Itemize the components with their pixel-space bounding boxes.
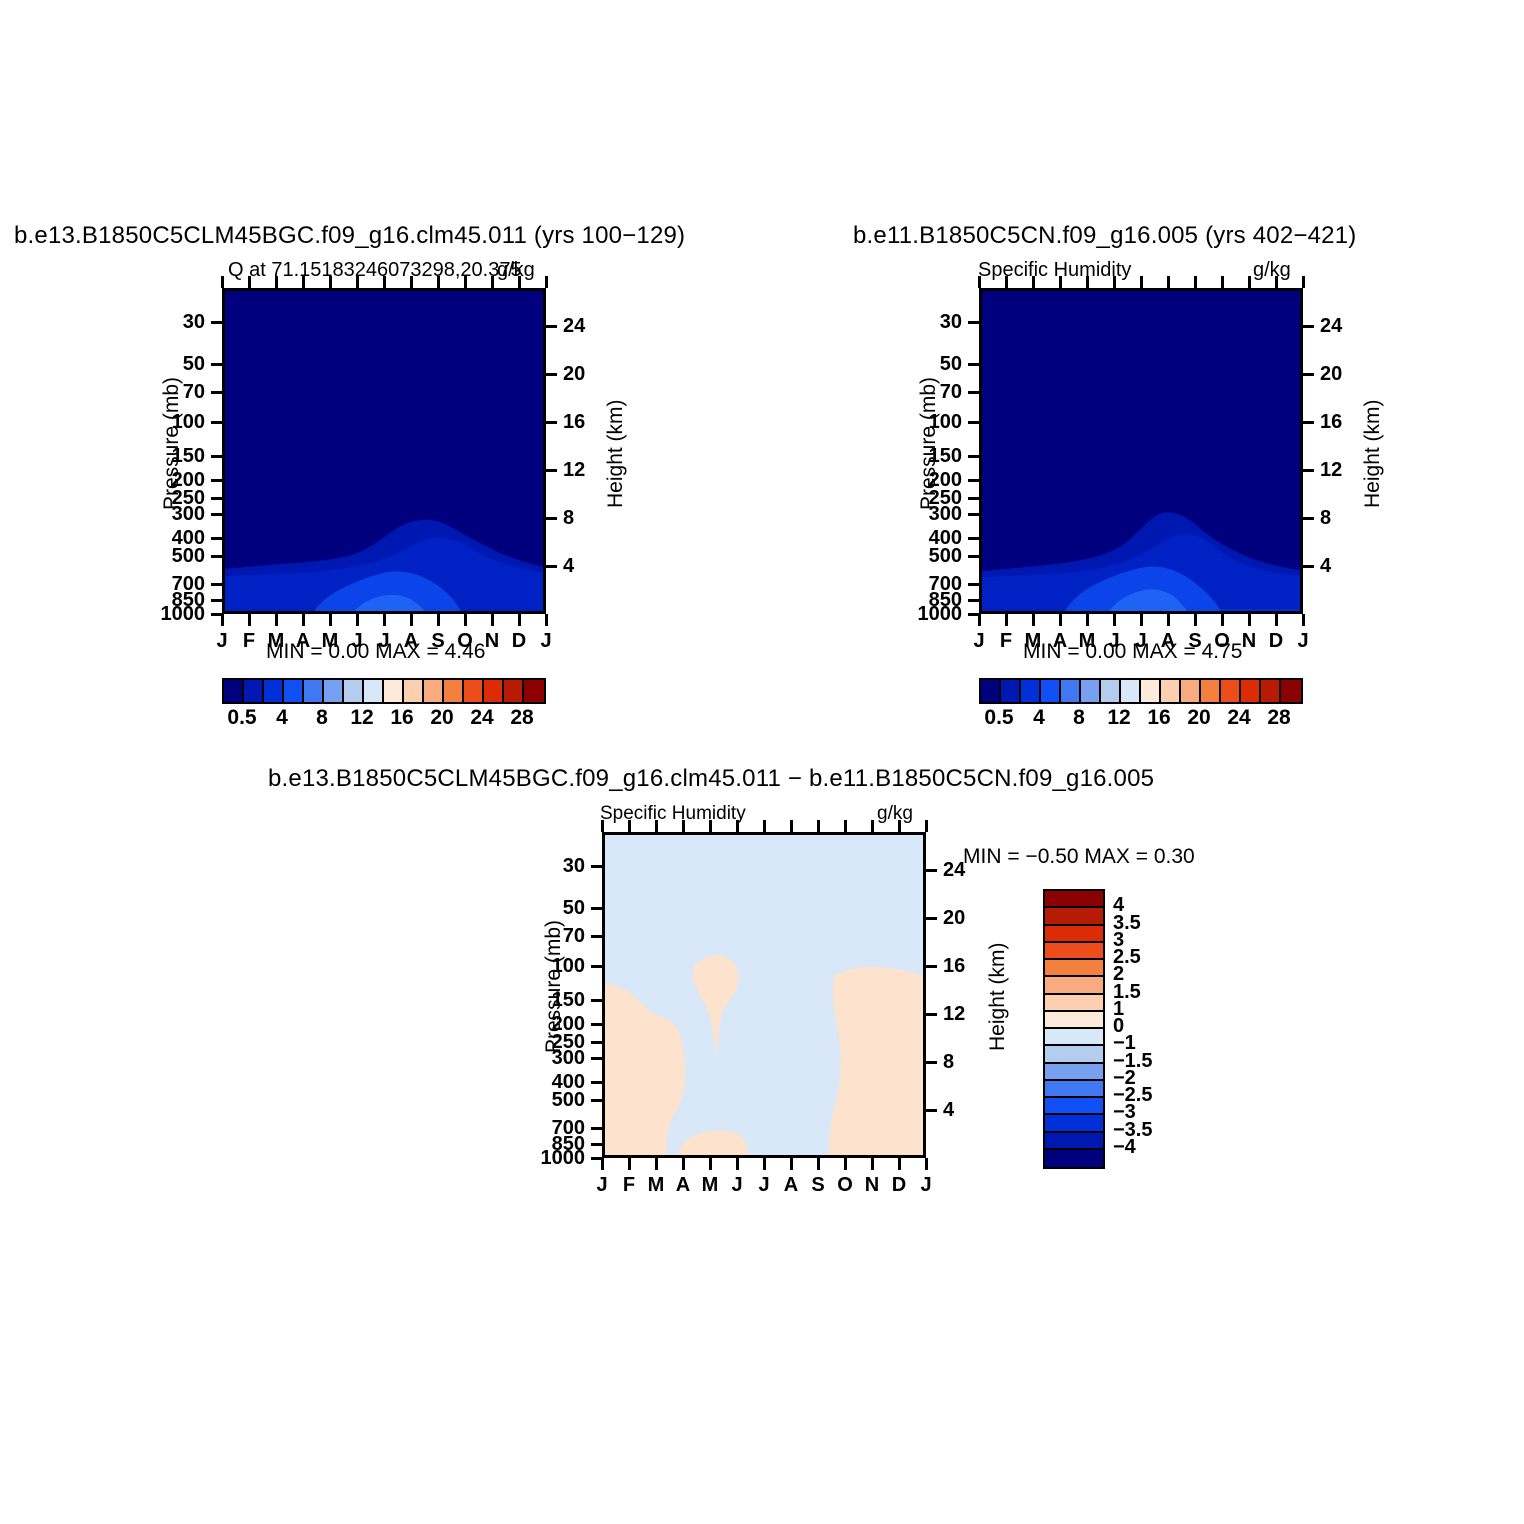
panel-difference-pressure-tick-400 (591, 1081, 602, 1084)
panel-case1-month-label-4: M (322, 630, 339, 653)
panel-case1-height-tick-20 (546, 373, 557, 376)
panel-difference-height-label-8: 8 (943, 1051, 954, 1074)
panel-case1-bottom-tick-5 (356, 614, 359, 626)
panel-difference-pressure-tick-150 (591, 999, 602, 1002)
panel-case1-height-label-20: 20 (563, 363, 585, 386)
panel-case2-colorbar-label-2: 8 (1073, 706, 1085, 730)
panel-case1-month-label-10: N (485, 630, 499, 653)
panel-case2-contour-field (982, 291, 1302, 613)
panel-case2-colorbar-swatch-8 (1141, 680, 1161, 702)
panel-case1-height-label-24: 24 (563, 315, 585, 338)
panel-case2-height-label-24: 24 (1320, 315, 1342, 338)
panel-case1-colorbar-swatch-12 (464, 680, 484, 702)
panel-case2-top-tick-6 (1140, 276, 1143, 288)
panel-case1-pressure-label-100: 100 (172, 411, 205, 434)
panel-case2-colorbar-swatch-9 (1161, 680, 1181, 702)
panel-difference-pressure-label-500: 500 (552, 1089, 585, 1112)
panel-difference-colorbar-swatch-5 (1045, 977, 1103, 994)
panel-case1-pressure-tick-30 (211, 321, 222, 324)
panel-case1-month-label-6: J (378, 630, 389, 653)
panel-case2-top-tick-4 (1086, 276, 1089, 288)
panel-case1-pressure-tick-150 (211, 455, 222, 458)
panel-case1-month-label-1: F (243, 630, 255, 653)
panel-case2-month-label-1: F (1000, 630, 1012, 653)
panel-case1-colorbar-label-4: 16 (390, 706, 413, 730)
panel-case1-colorbar-label-1: 4 (276, 706, 288, 730)
panel-difference-top-tick-8 (817, 820, 820, 832)
panel-difference-month-label-9: O (837, 1174, 853, 1197)
panel-case1-month-label-11: D (512, 630, 526, 653)
panel-case1-pressure-tick-250 (211, 497, 222, 500)
panel-difference-top-tick-2 (655, 820, 658, 832)
panel-case1-pressure-tick-200 (211, 479, 222, 482)
panel-case2-pressure-tick-400 (968, 537, 979, 540)
panel-difference-bottom-tick-5 (736, 1158, 739, 1170)
panel-case2-colorbar-swatch-6 (1101, 680, 1121, 702)
panel-case1-pressure-label-70: 70 (183, 381, 205, 404)
panel-case2-pressure-tick-300 (968, 513, 979, 516)
panel-case2-height-tick-12 (1303, 469, 1314, 472)
panel-difference-bottom-tick-12 (925, 1158, 928, 1170)
panel-case1-pressure-tick-700 (211, 583, 222, 586)
panel-difference-pressure-tick-30 (591, 865, 602, 868)
panel-difference-colorbar-swatch-3 (1045, 943, 1103, 960)
panel-case1-bottom-tick-7 (410, 614, 413, 626)
panel-case2-height-tick-8 (1303, 517, 1314, 520)
panel-case2-bottom-tick-9 (1221, 614, 1224, 626)
panel-difference-month-label-0: J (596, 1174, 607, 1197)
panel-difference-pressure-tick-250 (591, 1041, 602, 1044)
panel-case1-top-tick-3 (302, 276, 305, 288)
panel-difference-contour-field (605, 835, 925, 1157)
panel-difference-top-tick-7 (790, 820, 793, 832)
panel-case2-colorbar-swatch-14 (1261, 680, 1281, 702)
panel-case1-colorbar-label-6: 24 (470, 706, 493, 730)
panel-case1-colorbar-label-7: 28 (510, 706, 533, 730)
panel-case2-bottom-tick-3 (1059, 614, 1062, 626)
panel-case1-bottom-tick-1 (248, 614, 251, 626)
panel-case2-bottom-tick-6 (1140, 614, 1143, 626)
panel-difference-bottom-tick-0 (601, 1158, 604, 1170)
panel-case2-bottom-tick-10 (1248, 614, 1251, 626)
panel-difference-pressure-label-30: 30 (563, 855, 585, 878)
panel-difference-top-tick-0 (601, 820, 604, 832)
panel-case1-colorbar-label-3: 12 (350, 706, 373, 730)
panel-case2-height-label-12: 12 (1320, 459, 1342, 482)
panel-case2-top-tick-2 (1032, 276, 1035, 288)
panel-case2-title: b.e11.B1850C5CN.f09_g16.005 (yrs 402−421… (853, 222, 1356, 250)
panel-case2-month-label-0: J (973, 630, 984, 653)
panel-difference-height-label-12: 12 (943, 1003, 965, 1026)
panel-case2-colorbar-label-4: 16 (1147, 706, 1170, 730)
panel-case1-colorbar-swatch-1 (244, 680, 264, 702)
panel-case2-pressure-label-100: 100 (929, 411, 962, 434)
panel-difference-bottom-tick-6 (763, 1158, 766, 1170)
panel-case1-top-tick-11 (518, 276, 521, 288)
panel-case2-height-tick-24 (1303, 325, 1314, 328)
panel-difference-height-tick-8 (926, 1061, 937, 1064)
panel-difference-colorbar-swatch-11 (1045, 1081, 1103, 1098)
panel-case1-height-tick-4 (546, 565, 557, 568)
panel-difference-top-tick-5 (736, 820, 739, 832)
panel-case2-colorbar-label-7: 28 (1267, 706, 1290, 730)
panel-case2-colorbar-swatch-3 (1041, 680, 1061, 702)
panel-case2-colorbar-swatch-1 (1001, 680, 1021, 702)
panel-difference-month-label-10: N (865, 1174, 879, 1197)
panel-case2-top-tick-9 (1221, 276, 1224, 288)
panel-case1-month-label-9: O (457, 630, 473, 653)
panel-difference-subtitle-left: Specific Humidity (600, 803, 746, 825)
panel-case2-pressure-tick-100 (968, 421, 979, 424)
panel-case1-subtitle-right: g/kg (497, 259, 535, 282)
panel-case2-colorbar-label-0: 0.5 (984, 706, 1013, 730)
panel-difference-minmax: MIN = −0.50 MAX = 0.30 (963, 845, 1195, 869)
panel-difference-pressure-tick-70 (591, 935, 602, 938)
panel-difference-height-tick-4 (926, 1109, 937, 1112)
panel-difference-pressure-tick-50 (591, 907, 602, 910)
panel-difference-top-tick-10 (871, 820, 874, 832)
panel-case2-bottom-tick-12 (1302, 614, 1305, 626)
panel-difference-height-tick-16 (926, 965, 937, 968)
panel-difference-colorbar-swatch-10 (1045, 1064, 1103, 1081)
panel-case2-bottom-tick-7 (1167, 614, 1170, 626)
panel-case1-month-label-12: J (540, 630, 551, 653)
panel-case1-title: b.e13.B1850C5CLM45BGC.f09_g16.clm45.011 … (14, 222, 685, 250)
panel-case1-colorbar-swatch-4 (304, 680, 324, 702)
panel-case1-month-label-3: A (296, 630, 310, 653)
panel-case1-colorbar-swatch-3 (284, 680, 304, 702)
panel-case1-top-tick-8 (437, 276, 440, 288)
panel-case2-top-tick-0 (978, 276, 981, 288)
panel-case2-bottom-tick-1 (1005, 614, 1008, 626)
panel-case2-height-tick-20 (1303, 373, 1314, 376)
panel-case1-height-label-4: 4 (563, 555, 574, 578)
panel-difference-plot-area (602, 832, 926, 1158)
panel-case1-top-tick-2 (275, 276, 278, 288)
panel-case2-month-label-9: O (1214, 630, 1230, 653)
panel-difference-height-tick-12 (926, 1013, 937, 1016)
panel-case2-height-label-8: 8 (1320, 507, 1331, 530)
panel-case2-colorbar-swatch-12 (1221, 680, 1241, 702)
panel-case1-month-label-2: M (268, 630, 285, 653)
panel-case2-colorbar-label-1: 4 (1033, 706, 1045, 730)
panel-case2-top-tick-10 (1248, 276, 1251, 288)
panel-difference-colorbar-swatch-7 (1045, 1012, 1103, 1029)
panel-case1-contour-field (225, 291, 545, 613)
panel-difference-top-tick-12 (925, 820, 928, 832)
panel-difference-pressure-label-300: 300 (552, 1047, 585, 1070)
panel-case1-pressure-label-300: 300 (172, 503, 205, 526)
panel-difference-bottom-tick-3 (682, 1158, 685, 1170)
panel-case2-top-tick-12 (1302, 276, 1305, 288)
panel-case2-colorbar (979, 678, 1303, 704)
panel-case2-colorbar-swatch-4 (1061, 680, 1081, 702)
panel-difference-month-label-2: M (648, 1174, 665, 1197)
panel-difference-bottom-tick-7 (790, 1158, 793, 1170)
panel-case1-bottom-tick-9 (464, 614, 467, 626)
panel-case2-top-tick-11 (1275, 276, 1278, 288)
panel-case2-colorbar-label-3: 12 (1107, 706, 1130, 730)
panel-difference-pressure-tick-850 (591, 1143, 602, 1146)
panel-difference-pressure-tick-700 (591, 1127, 602, 1130)
panel-case1-height-tick-12 (546, 469, 557, 472)
panel-case1-pressure-label-50: 50 (183, 353, 205, 376)
panel-difference-colorbar (1043, 889, 1105, 1169)
panel-case1-pressure-label-500: 500 (172, 545, 205, 568)
panel-case2-colorbar-swatch-11 (1201, 680, 1221, 702)
panel-case2-month-label-3: A (1053, 630, 1067, 653)
panel-case1-top-tick-12 (545, 276, 548, 288)
panel-difference-subtitle-right: g/kg (877, 803, 913, 825)
panel-difference-colorbar-swatch-12 (1045, 1098, 1103, 1115)
panel-case2-colorbar-swatch-5 (1081, 680, 1101, 702)
panel-case2-colorbar-label-5: 20 (1187, 706, 1210, 730)
panel-case1-top-tick-5 (356, 276, 359, 288)
panel-case2-bottom-tick-4 (1086, 614, 1089, 626)
panel-case1-colorbar-swatch-15 (524, 680, 544, 702)
panel-difference-bottom-tick-11 (898, 1158, 901, 1170)
panel-difference-month-label-3: A (676, 1174, 690, 1197)
panel-difference-title: b.e13.B1850C5CLM45BGC.f09_g16.clm45.011 … (268, 765, 1154, 793)
panel-case2-top-tick-3 (1059, 276, 1062, 288)
panel-case2-colorbar-swatch-13 (1241, 680, 1261, 702)
panel-case1-colorbar-swatch-2 (264, 680, 284, 702)
panel-case2-bottom-tick-2 (1032, 614, 1035, 626)
panel-case2-pressure-tick-30 (968, 321, 979, 324)
panel-case1-bottom-tick-2 (275, 614, 278, 626)
panel-case2-pressure-tick-150 (968, 455, 979, 458)
panel-difference-month-label-6: J (758, 1174, 769, 1197)
panel-case2-subtitle-left: Specific Humidity (978, 259, 1131, 282)
panel-difference-top-tick-6 (763, 820, 766, 832)
panel-difference-height-label-4: 4 (943, 1099, 954, 1122)
panel-case1-top-tick-4 (329, 276, 332, 288)
panel-difference-colorbar-label-14: −4 (1113, 1136, 1136, 1159)
panel-case2-month-label-11: D (1269, 630, 1283, 653)
panel-case2-pressure-tick-70 (968, 391, 979, 394)
panel-case2-height-label-4: 4 (1320, 555, 1331, 578)
panel-case2-pressure-tick-50 (968, 363, 979, 366)
panel-case1-colorbar (222, 678, 546, 704)
panel-case2-month-label-5: J (1108, 630, 1119, 653)
panel-difference-bottom-tick-4 (709, 1158, 712, 1170)
panel-case1-height-tick-24 (546, 325, 557, 328)
panel-case2-pressure-tick-500 (968, 555, 979, 558)
panel-difference-colorbar-swatch-13 (1045, 1115, 1103, 1132)
panel-case2-colorbar-swatch-0 (981, 680, 1001, 702)
panel-case1-colorbar-label-5: 20 (430, 706, 453, 730)
panel-case2-plot-area (979, 288, 1303, 614)
panel-case2-top-tick-7 (1167, 276, 1170, 288)
panel-case1-top-tick-1 (248, 276, 251, 288)
panel-case1-pressure-tick-850 (211, 599, 222, 602)
panel-difference-month-label-8: S (811, 1174, 824, 1197)
panel-difference-top-tick-4 (709, 820, 712, 832)
panel-case1-bottom-tick-4 (329, 614, 332, 626)
panel-difference-month-label-1: F (623, 1174, 635, 1197)
panel-case1-colorbar-swatch-9 (404, 680, 424, 702)
panel-difference-height-tick-24 (926, 869, 937, 872)
panel-case2-height-label-16: 16 (1320, 411, 1342, 434)
panel-case2-month-label-8: S (1188, 630, 1201, 653)
panel-difference-colorbar-swatch-15 (1045, 1150, 1103, 1167)
panel-case1-top-tick-9 (464, 276, 467, 288)
panel-case1-pressure-label-150: 150 (172, 445, 205, 468)
panel-case1-height-label-12: 12 (563, 459, 585, 482)
panel-difference-colorbar-swatch-1 (1045, 908, 1103, 925)
panel-difference-colorbar-swatch-14 (1045, 1133, 1103, 1150)
panel-difference-month-label-11: D (892, 1174, 906, 1197)
panel-case1-month-label-5: J (351, 630, 362, 653)
panel-case2-pressure-tick-200 (968, 479, 979, 482)
panel-difference-top-tick-1 (628, 820, 631, 832)
panel-difference-colorbar-swatch-8 (1045, 1029, 1103, 1046)
panel-case1-subtitle-left: Q at 71.15183246073298,20.375 (228, 259, 522, 282)
panel-difference-pressure-tick-200 (591, 1023, 602, 1026)
panel-difference-height-label-24: 24 (943, 859, 965, 882)
panel-case1-month-label-8: S (431, 630, 444, 653)
panel-difference-colorbar-swatch-9 (1045, 1046, 1103, 1063)
panel-case1-pressure-label-30: 30 (183, 311, 205, 334)
panel-case2-colorbar-swatch-10 (1181, 680, 1201, 702)
panel-difference-colorbar-swatch-4 (1045, 960, 1103, 977)
panel-case1-bottom-tick-6 (383, 614, 386, 626)
panel-case2-month-label-6: J (1135, 630, 1146, 653)
panel-case1-pressure-tick-100 (211, 421, 222, 424)
panel-difference-colorbar-swatch-0 (1045, 891, 1103, 908)
panel-case2-ylabel-right: Height (km) (1361, 399, 1385, 508)
panel-case2-pressure-tick-250 (968, 497, 979, 500)
panel-case1-bottom-tick-0 (221, 614, 224, 626)
panel-case1-colorbar-swatch-7 (364, 680, 384, 702)
panel-case1-bottom-tick-8 (437, 614, 440, 626)
panel-difference-pressure-label-150: 150 (552, 989, 585, 1012)
panel-difference-month-label-12: J (920, 1174, 931, 1197)
panel-difference-pressure-tick-100 (591, 965, 602, 968)
panel-difference-pressure-label-1000: 1000 (541, 1147, 586, 1170)
panel-case2-height-tick-4 (1303, 565, 1314, 568)
panel-difference-height-tick-20 (926, 917, 937, 920)
panel-case2-top-tick-8 (1194, 276, 1197, 288)
panel-case1-month-label-7: A (404, 630, 418, 653)
panel-case2-height-label-20: 20 (1320, 363, 1342, 386)
panel-case2-bottom-tick-11 (1275, 614, 1278, 626)
panel-case1-pressure-tick-70 (211, 391, 222, 394)
panel-case2-bottom-tick-5 (1113, 614, 1116, 626)
panel-case1-height-tick-16 (546, 421, 557, 424)
panel-difference-bottom-tick-9 (844, 1158, 847, 1170)
panel-difference-ylabel-right: Height (km) (986, 942, 1010, 1051)
panel-case2-pressure-tick-700 (968, 583, 979, 586)
panel-difference-height-label-16: 16 (943, 955, 965, 978)
panel-case1-top-tick-7 (410, 276, 413, 288)
panel-case2-pressure-label-300: 300 (929, 503, 962, 526)
panel-case1-pressure-tick-50 (211, 363, 222, 366)
panel-case2-top-tick-5 (1113, 276, 1116, 288)
panel-difference-bottom-tick-2 (655, 1158, 658, 1170)
panel-case1-pressure-tick-500 (211, 555, 222, 558)
panel-case2-pressure-label-30: 30 (940, 311, 962, 334)
panel-case2-pressure-tick-850 (968, 599, 979, 602)
panel-case1-bottom-tick-12 (545, 614, 548, 626)
panel-difference-top-tick-3 (682, 820, 685, 832)
panel-case1-month-label-0: J (216, 630, 227, 653)
panel-case2-pressure-label-70: 70 (940, 381, 962, 404)
panel-case1-colorbar-label-2: 8 (316, 706, 328, 730)
panel-case1-plot-area (222, 288, 546, 614)
panel-case1-colorbar-swatch-0 (224, 680, 244, 702)
panel-case1-bottom-tick-11 (518, 614, 521, 626)
panel-case2-month-label-12: J (1297, 630, 1308, 653)
panel-case1-colorbar-swatch-10 (424, 680, 444, 702)
panel-case2-pressure-label-500: 500 (929, 545, 962, 568)
panel-case2-height-tick-16 (1303, 421, 1314, 424)
panel-case2-subtitle-right: g/kg (1253, 259, 1291, 282)
panel-case2-month-label-7: A (1161, 630, 1175, 653)
panel-case2-month-label-4: M (1079, 630, 1096, 653)
panel-case2-month-label-2: M (1025, 630, 1042, 653)
panel-case1-colorbar-swatch-8 (384, 680, 404, 702)
panel-case2-colorbar-label-6: 24 (1227, 706, 1250, 730)
panel-difference-top-tick-9 (844, 820, 847, 832)
panel-case1-top-tick-6 (383, 276, 386, 288)
panel-case1-height-label-16: 16 (563, 411, 585, 434)
panel-difference-month-label-7: A (784, 1174, 798, 1197)
panel-difference-pressure-label-50: 50 (563, 897, 585, 920)
panel-difference-bottom-tick-10 (871, 1158, 874, 1170)
panel-case1-colorbar-swatch-6 (344, 680, 364, 702)
panel-case2-colorbar-swatch-2 (1021, 680, 1041, 702)
panel-case1-height-label-8: 8 (563, 507, 574, 530)
panel-difference-month-label-5: J (731, 1174, 742, 1197)
panel-case1-colorbar-swatch-11 (444, 680, 464, 702)
panel-difference-colorbar-swatch-6 (1045, 995, 1103, 1012)
panel-case1-top-tick-10 (491, 276, 494, 288)
panel-case1-colorbar-swatch-13 (484, 680, 504, 702)
panel-difference-bottom-tick-8 (817, 1158, 820, 1170)
panel-case2-top-tick-1 (1005, 276, 1008, 288)
panel-case2-colorbar-swatch-7 (1121, 680, 1141, 702)
panel-case2-pressure-label-1000: 1000 (918, 603, 963, 626)
panel-case2-pressure-label-150: 150 (929, 445, 962, 468)
panel-difference-bottom-tick-1 (628, 1158, 631, 1170)
panel-case1-pressure-label-1000: 1000 (161, 603, 206, 626)
panel-case1-pressure-tick-300 (211, 513, 222, 516)
panel-difference-height-label-20: 20 (943, 907, 965, 930)
panel-case1-height-tick-8 (546, 517, 557, 520)
panel-difference-top-tick-11 (898, 820, 901, 832)
panel-case2-bottom-tick-0 (978, 614, 981, 626)
panel-case2-pressure-label-50: 50 (940, 353, 962, 376)
panel-difference-month-label-4: M (702, 1174, 719, 1197)
panel-case2-month-label-10: N (1242, 630, 1256, 653)
panel-case1-colorbar-swatch-14 (504, 680, 524, 702)
panel-difference-colorbar-swatch-2 (1045, 926, 1103, 943)
panel-case1-bottom-tick-3 (302, 614, 305, 626)
panel-case2-bottom-tick-8 (1194, 614, 1197, 626)
panel-case1-pressure-tick-400 (211, 537, 222, 540)
panel-difference-pressure-label-100: 100 (552, 955, 585, 978)
panel-difference-pressure-tick-500 (591, 1099, 602, 1102)
panel-difference-pressure-tick-300 (591, 1057, 602, 1060)
panel-case2-colorbar-swatch-15 (1281, 680, 1301, 702)
panel-difference-pressure-label-70: 70 (563, 925, 585, 948)
panel-case1-colorbar-label-0: 0.5 (227, 706, 256, 730)
panel-case1-ylabel-right: Height (km) (604, 399, 628, 508)
panel-case1-bottom-tick-10 (491, 614, 494, 626)
panel-case1-top-tick-0 (221, 276, 224, 288)
panel-case1-colorbar-swatch-5 (324, 680, 344, 702)
